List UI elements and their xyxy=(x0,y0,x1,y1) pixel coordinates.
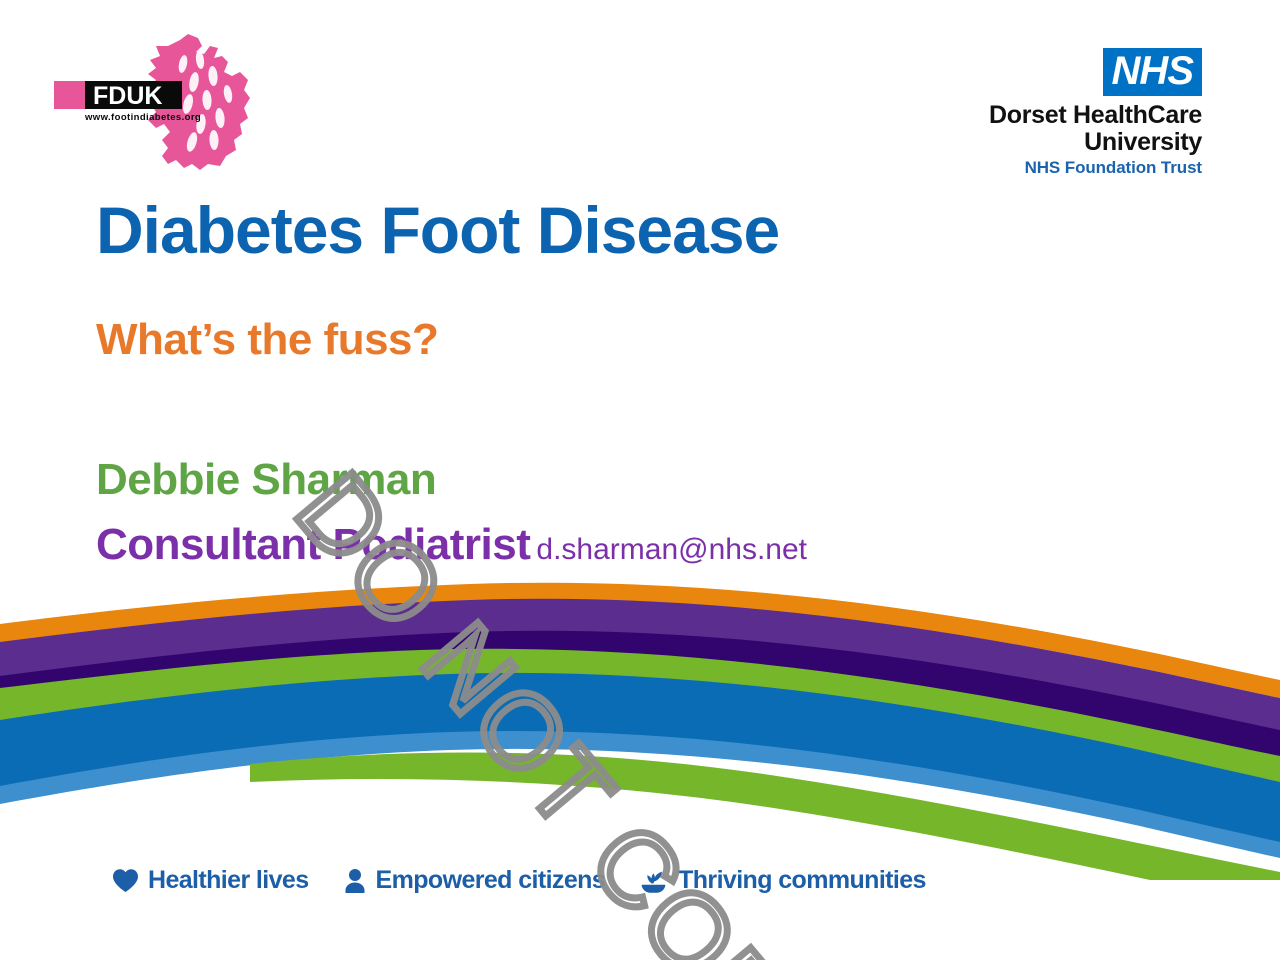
trust-foundation-label: NHS Foundation Trust xyxy=(989,155,1202,181)
fduk-website-text: www.footindiabetes.org xyxy=(84,112,201,123)
seedling-icon xyxy=(639,868,669,894)
nhs-logo-box: NHS xyxy=(1103,48,1202,96)
wave-graphic xyxy=(0,580,1280,880)
title-block: Diabetes Foot Disease What’s the fuss? D… xyxy=(96,196,1176,568)
slide-title: Diabetes Foot Disease xyxy=(96,196,1176,265)
strapline-item-healthier-lives: Healthier lives xyxy=(112,866,309,895)
fduk-logo-graphic: FDUK www.footindiabetes.org xyxy=(52,32,262,172)
presentation-slide: FDUK www.footindiabetes.org NHS Dorset H… xyxy=(0,0,1280,960)
wave-graphic-svg xyxy=(0,580,1280,880)
presenter-email[interactable]: d.sharman@nhs.net xyxy=(536,533,807,566)
slide-subtitle: What’s the fuss? xyxy=(96,317,1176,363)
trust-name-line1: Dorset HealthCare xyxy=(989,102,1202,129)
strapline-label-thriving-communities: Thriving communities xyxy=(678,866,926,895)
footer-strapline: Healthier lives Empowered citizens T xyxy=(112,866,926,895)
fduk-wordmark-bar: FDUK www.footindiabetes.org xyxy=(54,81,201,123)
strapline-item-thriving-communities: Thriving communities xyxy=(639,866,926,895)
fduk-wordmark-text: FDUK xyxy=(93,82,162,110)
strapline-label-healthier-lives: Healthier lives xyxy=(148,866,309,895)
heart-icon xyxy=(112,868,139,893)
presenter-role-line: Consultant Podiatristd.sharman@nhs.net xyxy=(96,522,1176,568)
fduk-logo: FDUK www.footindiabetes.org xyxy=(52,32,262,172)
nhs-dorset-healthcare-logo: NHS Dorset HealthCare University NHS Fou… xyxy=(989,48,1202,181)
trust-name-line2: University xyxy=(989,129,1202,156)
strapline-label-empowered-citizens: Empowered citizens xyxy=(376,866,606,895)
person-icon xyxy=(343,868,367,894)
presenter-name: Debbie Sharman xyxy=(96,457,1176,503)
presenter-role: Consultant Podiatrist xyxy=(96,520,530,569)
nhs-logo-text: NHS xyxy=(1112,52,1193,91)
strapline-item-empowered-citizens: Empowered citizens xyxy=(343,866,606,895)
